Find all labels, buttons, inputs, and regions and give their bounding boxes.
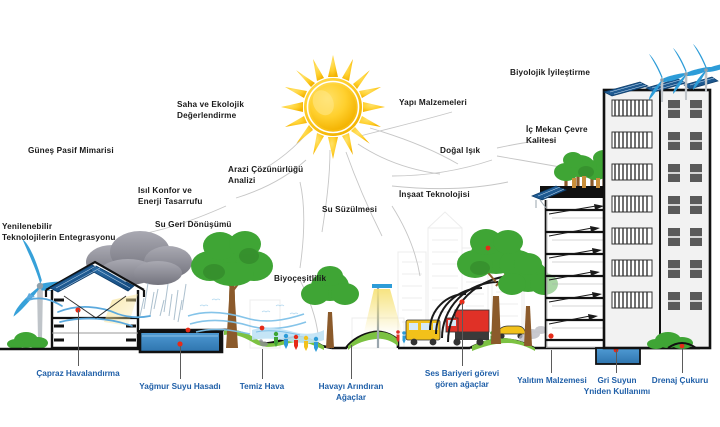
label-drenaj-cukuru: Drenaj Çukuru	[640, 376, 720, 387]
leader-yalitim-malzemesi	[551, 350, 552, 373]
hotspot-marker	[548, 333, 553, 338]
label-saha-ve-ekolojik: Saha ve Ekolojik Değerlendirme	[177, 100, 244, 122]
leader-capraz-havalandirma	[78, 310, 79, 366]
sun-icon	[281, 55, 385, 159]
label-gunes-pasif-mimarisi: Güneş Pasif Mimarisi	[28, 146, 114, 157]
greywater-tank-icon	[596, 348, 640, 364]
label-su-geri-donusumu: Su Geri Dönüşümü	[155, 220, 232, 231]
hotspot-marker	[186, 328, 191, 333]
leader-gri-suyun-yniden-kullanimi	[616, 350, 617, 373]
label-yenilenebilir-teknolojiler: Yenilenebilir Teknolojilerin Entegrasyon…	[2, 222, 116, 244]
label-temiz-hava: Temiz Hava	[212, 382, 312, 393]
high-rise-tower-icon	[604, 44, 720, 348]
label-capraz-havalandirma: Çapraz Havalandırma	[8, 369, 148, 380]
leader-ses-bariyeri-agaclar	[462, 303, 463, 366]
label-biyocesitlilik: Biyoçeşitlilik	[274, 274, 326, 285]
infographic-canvas: Güneş Pasif Mimarisi Yenilenebilir Tekno…	[0, 0, 720, 427]
label-havayi-arindiran-agaclar: Havayı Arındıran Ağaçlar	[303, 382, 399, 403]
leader-havayi-arindiran-agaclar	[351, 345, 352, 379]
label-insaat-teknolojisi: İnşaat Teknolojisi	[399, 190, 470, 201]
label-arazi-cozunurlugu: Arazi Çözünürlüğü Analizi	[228, 165, 303, 187]
label-isil-konfor: Isıl Konfor ve Enerji Tasarrufu	[138, 186, 203, 208]
label-su-suzulmesi: Su Süzülmesi	[322, 205, 377, 216]
hotspot-marker	[260, 326, 265, 331]
label-ic-mekan-cevre: İç Mekan Çevre Kalitesi	[526, 125, 588, 147]
leader-temiz-hava	[262, 349, 263, 379]
hotspot-marker	[486, 246, 491, 251]
leader-drenaj-cukuru	[682, 348, 683, 373]
label-biyolojik-iyilestirme: Biyolojik İyileştirme	[510, 68, 590, 79]
bus-icon	[406, 320, 440, 345]
leader-yagmur-suyu-hasadi	[180, 346, 181, 379]
label-dogal-isik: Doğal Işık	[440, 146, 480, 157]
label-yapi-malzemeleri: Yapı Malzemeleri	[399, 98, 467, 109]
label-ses-bariyeri-agaclar: Ses Bariyeri görevi gören ağaçlar	[410, 369, 514, 390]
